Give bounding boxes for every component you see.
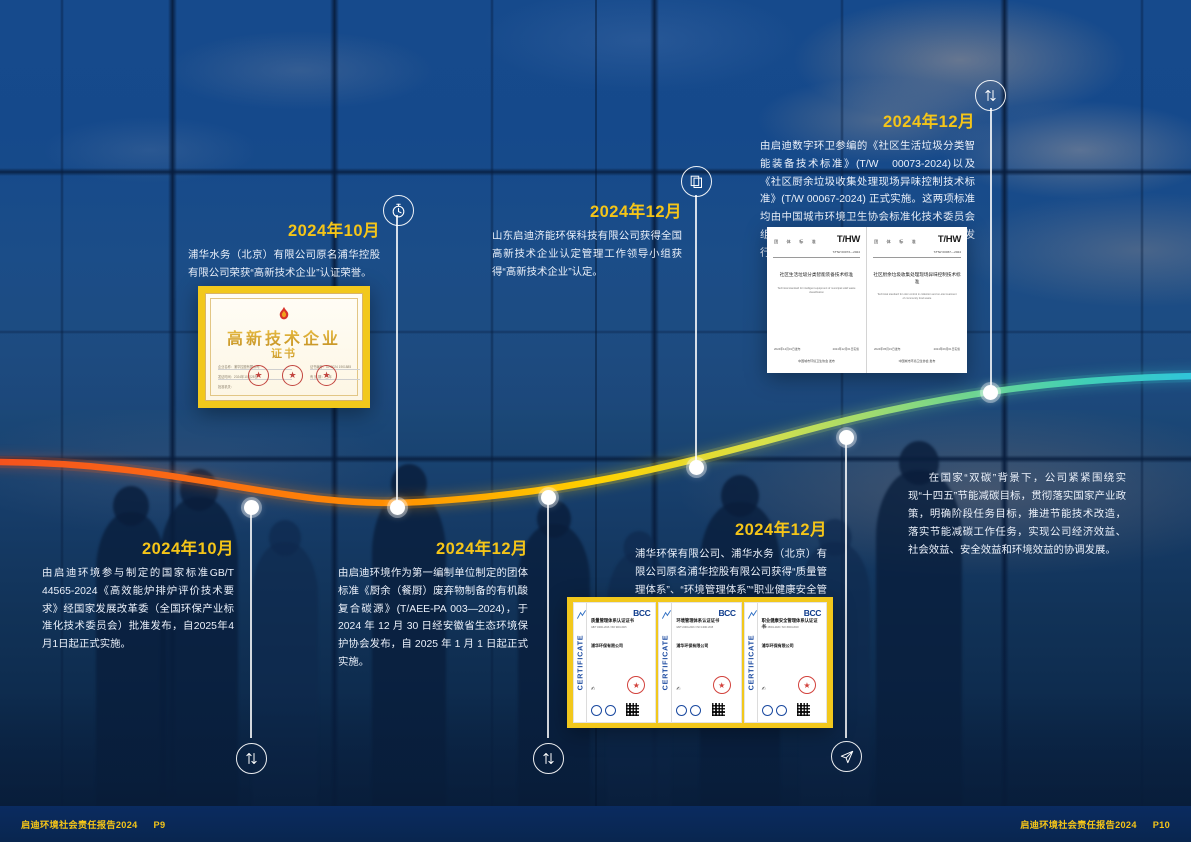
standard-2-kind: 团 体 标 准 — [874, 239, 919, 245]
summary-body: 在国家“双碳”背景下，公司紧紧围绕实现“十四五”节能减碳目标，贯彻落实国家产业政… — [908, 470, 1126, 559]
gaoxin-seal-2: ★ — [282, 365, 303, 386]
timeline-stem-3 — [990, 108, 992, 390]
gaoxin-seal-3: ★ — [316, 365, 337, 386]
bcc-3-seal: ★ — [798, 676, 816, 694]
sort-arrows-icon-top[interactable] — [975, 80, 1006, 111]
standard-2-name: 社区厨余垃圾收集处理现场异味控制技术标准 — [873, 272, 961, 285]
summary-text: 在国家“双碳”背景下，公司紧紧围绕实现“十四五”节能减碳目标，贯彻落实国家产业政… — [908, 470, 1126, 559]
bcc-2-accreditation-marks — [676, 705, 701, 716]
sort-arrows-icon-left[interactable] — [236, 743, 267, 774]
gaoxin-certificate-inner: 高新技术企业 证书 企业名称：浦华控股有限公司 发证时间：2024年10月28日… — [205, 293, 363, 401]
standard-2-org: 中国城市环境卫生协会 发布 — [867, 359, 967, 363]
bcc-3-check-icon — [747, 607, 758, 625]
bcc-1-seal: ★ — [627, 676, 645, 694]
standard-2-mark: T/HW — [938, 234, 961, 245]
footer-bar — [0, 806, 1191, 842]
standard-2-issue-date: 2024年05月31日发布 — [874, 347, 900, 351]
bcc-1-standard: GB/T 19001-2016 / ISO 9001:2015 — [591, 627, 650, 629]
bcc-certificate-1: CERTIFICATE BCC 质量管理体系认证证书 GB/T 19001-20… — [573, 602, 656, 723]
standard-1-issue-date: 2024年12月01日发布 — [774, 347, 800, 351]
event-1-text: 2024年10月 浦华水务（北京）有限公司原名浦华控股有限公司荣获“高新技术企业… — [188, 222, 380, 283]
footer-left: 启迪环境社会责任报告2024P9 — [21, 817, 165, 831]
timeline-node-3[interactable] — [983, 385, 998, 400]
standard-1-effect-date: 2024年12月01日实施 — [833, 347, 859, 351]
page-stage: 2024年10月 浦华水务（北京）有限公司原名浦华控股有限公司荣获“高新技术企业… — [0, 0, 1191, 842]
footer-right-report: 启迪环境社会责任报告2024 — [1020, 820, 1137, 830]
event-5-body: 由启迪环境作为第一编制单位制定的团体标准《厨余（餐厨）废弃物制备的有机酸复合碳源… — [338, 565, 528, 672]
bcc-1-logo: BCC — [633, 608, 650, 618]
bcc-3-accreditation-marks — [762, 705, 787, 716]
standards-card: 团 体 标 准 T/HW T/HW 00073—2024 社区生活垃圾分类智能装… — [767, 227, 967, 373]
footer-left-page: P9 — [154, 820, 166, 830]
event-5-text: 2024年12月 由启迪环境作为第一编制单位制定的团体标准《厨余（餐厨）废弃物制… — [338, 540, 528, 672]
bcc-1-qr-code — [626, 703, 639, 716]
bcc-3-qr-code — [797, 703, 810, 716]
bcc-certificates-card: CERTIFICATE BCC 质量管理体系认证证书 GB/T 19001-20… — [567, 597, 833, 728]
event-2-text: 2024年12月 山东启迪济能环保科技有限公司获得全国高新技术企业认定管理工作领… — [492, 203, 682, 281]
bcc-1-accreditation-marks — [591, 705, 616, 716]
bcc-2-signature: ✍ — [676, 686, 680, 692]
event-2-date: 2024年12月 — [492, 203, 682, 223]
timeline-node-1[interactable] — [390, 500, 405, 515]
footer-right-page: P10 — [1153, 820, 1170, 830]
standard-1-name: 社区生活垃圾分类智能装备技术标准 — [773, 272, 860, 279]
timeline-node-4[interactable] — [244, 500, 259, 515]
timeline-node-2[interactable] — [689, 460, 704, 475]
bcc-2-seal: ★ — [713, 676, 731, 694]
bcc-2-standard: GB/T 24001-2016 / ISO 14001:2015 — [676, 627, 735, 629]
bcc-2-logo: BCC — [718, 608, 735, 618]
event-3-date: 2024年12月 — [760, 113, 975, 133]
standard-1-mark: T/HW — [837, 234, 860, 245]
standard-page-1: 团 体 标 准 T/HW T/HW 00073—2024 社区生活垃圾分类智能装… — [767, 227, 866, 373]
bcc-2-check-icon — [661, 607, 672, 625]
documents-icon[interactable] — [681, 166, 712, 197]
standard-2-code: T/HW 00067—2024 — [934, 250, 961, 254]
stopwatch-icon[interactable] — [383, 195, 414, 226]
footer-left-report: 启迪环境社会责任报告2024 — [21, 820, 138, 830]
event-1-date: 2024年10月 — [188, 222, 380, 242]
standard-page-2: 团 体 标 准 T/HW T/HW 00067—2024 社区厨余垃圾收集处理现… — [867, 227, 967, 373]
sort-arrows-icon-mid[interactable] — [533, 743, 564, 774]
footer-right: 启迪环境社会责任报告2024P10 — [1020, 817, 1170, 831]
event-6-date: 2024年12月 — [635, 521, 827, 541]
standard-2-name-en: Technical standard for odor control in c… — [877, 293, 957, 301]
gaoxin-seal-1: ★ — [248, 365, 269, 386]
standard-1-org: 中国城市环境卫生协会 发布 — [767, 359, 866, 363]
standard-2-effect-date: 2024年09月01日实施 — [934, 347, 960, 351]
bcc-1-company: 浦华环保有限公司 — [591, 643, 650, 649]
bcc-1-signature: ✍ — [591, 686, 595, 692]
bcc-2-company: 浦华环保有限公司 — [676, 643, 735, 649]
event-4-text: 2024年10月 由启迪环境参与制定的国家标准GB/T 44565-2024《高… — [42, 540, 234, 654]
event-4-date: 2024年10月 — [42, 540, 234, 560]
standard-1-code: T/HW 00073—2024 — [833, 250, 860, 254]
timeline-node-6[interactable] — [839, 430, 854, 445]
gaoxin-subtitle: 证书 — [206, 345, 362, 361]
bcc-2-qr-code — [712, 703, 725, 716]
timeline-stem-5 — [547, 496, 549, 738]
timeline-stem-2 — [695, 195, 697, 467]
event-4-body: 由启迪环境参与制定的国家标准GB/T 44565-2024《高效能炉排炉评价技术… — [42, 565, 234, 654]
gaoxin-certificate-card: 高新技术企业 证书 企业名称：浦华控股有限公司 发证时间：2024年10月28日… — [198, 286, 370, 408]
send-icon[interactable] — [831, 741, 862, 772]
bcc-1-check-icon — [576, 607, 587, 625]
bcc-3-standard: GB/T 45001-2020 / ISO 45001:2018 — [762, 627, 821, 629]
bcc-3-signature: ✍ — [762, 686, 766, 692]
timeline-stem-1 — [396, 215, 398, 507]
standard-1-kind: 团 体 标 准 — [774, 239, 819, 245]
bcc-2-title: 环境管理体系认证证书 — [676, 618, 735, 624]
bcc-certificate-2: CERTIFICATE BCC 环境管理体系认证证书 GB/T 24001-20… — [658, 602, 741, 723]
standard-1-name-en: Technical standard for intelligent equip… — [777, 287, 856, 295]
bcc-3-logo: BCC — [804, 608, 821, 618]
event-1-body: 浦华水务（北京）有限公司原名浦华控股有限公司荣获“高新技术企业”认证荣誉。 — [188, 247, 380, 283]
bcc-1-title: 质量管理体系认证证书 — [591, 618, 650, 624]
event-2-body: 山东启迪济能环保科技有限公司获得全国高新技术企业认定管理工作领导小组获得“高新技… — [492, 228, 682, 282]
timeline-stem-4 — [250, 506, 252, 738]
timeline-node-5[interactable] — [541, 490, 556, 505]
gaoxin-field-2: 批准机关： — [218, 384, 234, 389]
event-5-date: 2024年12月 — [338, 540, 528, 560]
timeline-stem-6 — [845, 436, 847, 738]
bcc-3-company: 浦华环保有限公司 — [762, 643, 821, 649]
bcc-certificate-3: CERTIFICATE BCC 职业健康安全管理体系认证证书 GB/T 4500… — [744, 602, 827, 723]
